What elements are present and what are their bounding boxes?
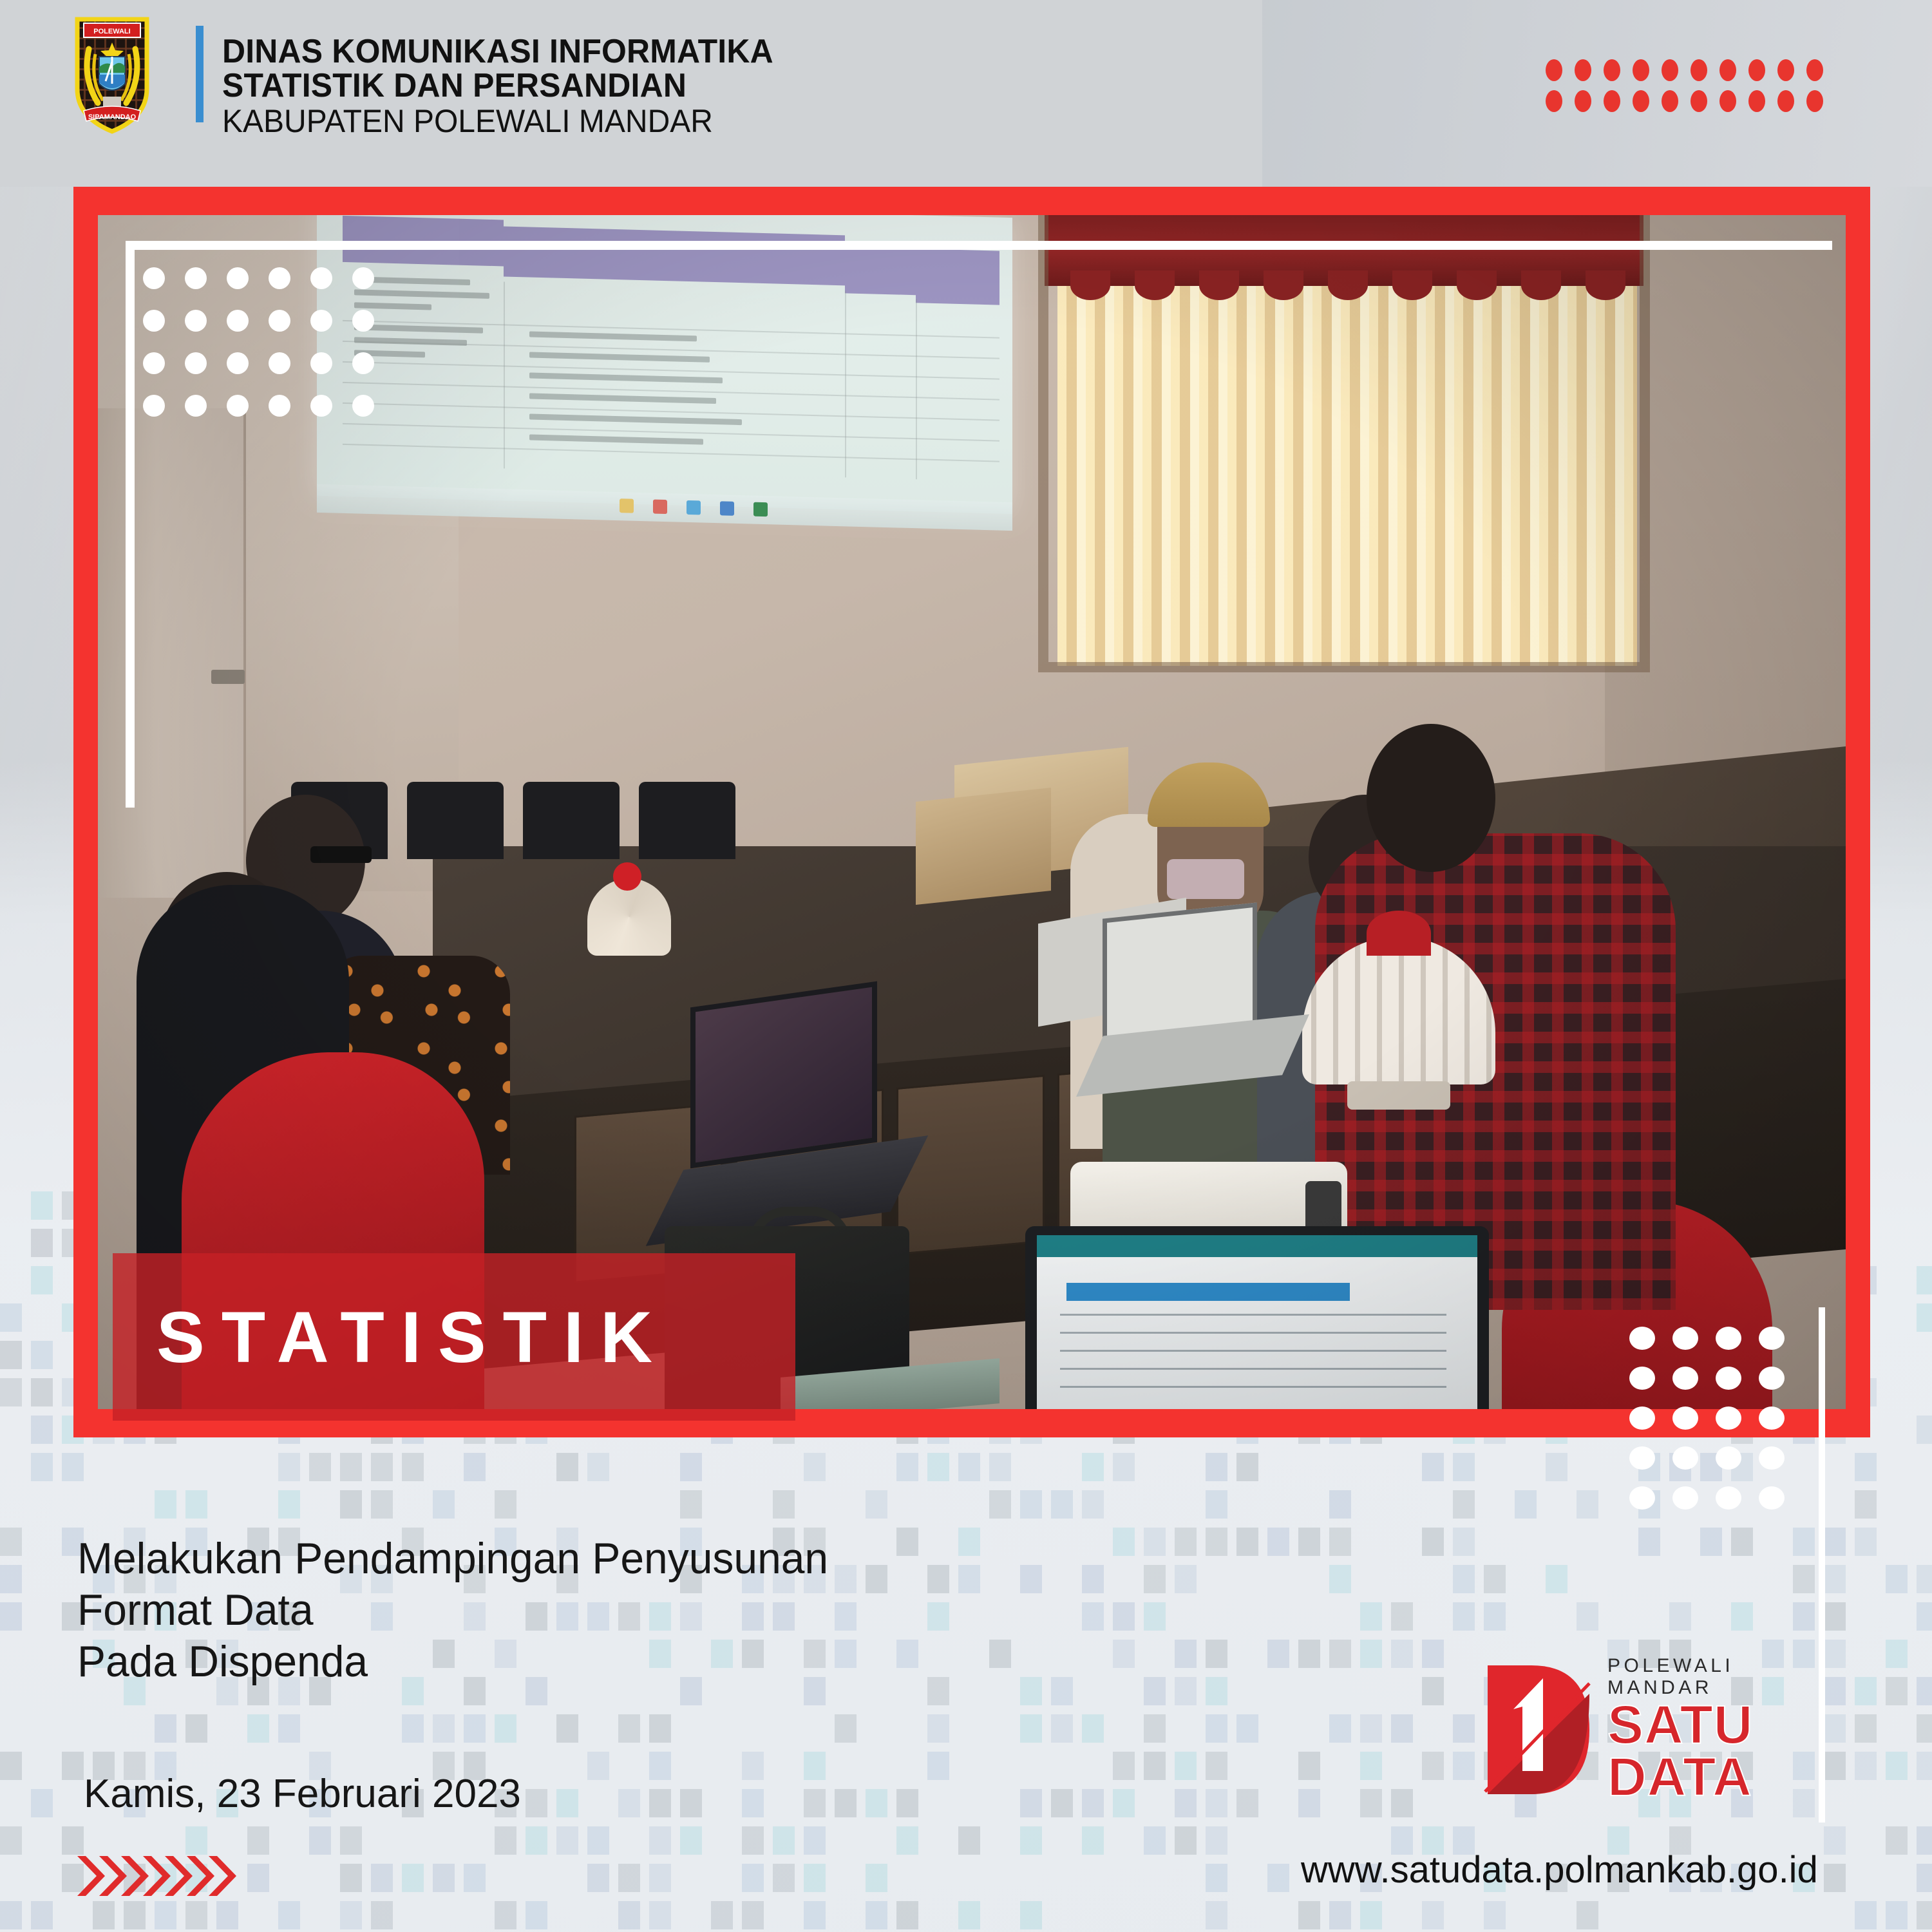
header-dot (1806, 90, 1823, 112)
header-dot (1633, 59, 1649, 81)
event-date: Kamis, 23 Februari 2023 (84, 1771, 521, 1817)
mosaic-pixel (31, 1453, 53, 1481)
mosaic-pixel (680, 1826, 702, 1855)
photo-dot (269, 352, 290, 374)
mosaic-pixel (927, 1752, 949, 1780)
statistik-label: STATISTIK (156, 1296, 669, 1379)
event-title-line-3: Pada Dispenda (77, 1636, 1139, 1687)
mosaic-pixel (0, 1528, 22, 1556)
mosaic-pixel (1917, 1677, 1932, 1705)
mosaic-pixel (587, 1752, 609, 1780)
footer-dot (1759, 1446, 1785, 1470)
mosaic-pixel (1175, 1752, 1197, 1780)
photo-dot (185, 395, 207, 417)
mosaic-pixel (1206, 1677, 1227, 1705)
mosaic-pixel (185, 1901, 207, 1929)
mosaic-pixel (1484, 1565, 1506, 1593)
mosaic-pixel (0, 1341, 22, 1369)
photo-dot (310, 352, 332, 374)
footer-dot (1629, 1367, 1655, 1390)
mosaic-pixel (896, 1901, 918, 1929)
photo-dot (143, 395, 165, 417)
mosaic-pixel (1515, 1490, 1537, 1519)
mosaic-pixel (433, 1490, 455, 1519)
mosaic-pixel (1638, 1528, 1660, 1556)
header-dot (1633, 90, 1649, 112)
mosaic-pixel (1206, 1453, 1227, 1481)
mosaic-pixel (371, 1901, 393, 1929)
mosaic-pixel (1391, 1789, 1413, 1817)
mosaic-pixel (495, 1826, 516, 1855)
header-dot (1748, 59, 1765, 81)
mosaic-pixel (1206, 1864, 1227, 1892)
mosaic-pixel (1824, 1602, 1846, 1631)
mosaic-pixel (1731, 1528, 1753, 1556)
footer-dot (1672, 1367, 1698, 1390)
mosaic-pixel (340, 1453, 362, 1481)
header-dot (1662, 59, 1678, 81)
mosaic-pixel (1360, 1602, 1382, 1631)
mosaic-pixel (340, 1490, 362, 1519)
mosaic-pixel (680, 1789, 702, 1817)
mosaic-pixel (1422, 1453, 1444, 1481)
photo-dot (227, 395, 249, 417)
photo-dot (352, 395, 374, 417)
mosaic-pixel (1855, 1528, 1877, 1556)
mosaic-pixel (1422, 1677, 1444, 1705)
header-dot (1777, 59, 1794, 81)
mosaic-pixel (1546, 1565, 1567, 1593)
mosaic-pixel (649, 1864, 671, 1892)
mosaic-pixel (155, 1490, 176, 1519)
satu-data-region-label: POLEWALI MANDAR (1607, 1655, 1823, 1699)
header-dot (1662, 90, 1678, 112)
mosaic-pixel (1298, 1789, 1320, 1817)
photo-dot (352, 310, 374, 332)
footer-dot (1672, 1406, 1698, 1430)
header-dot (1604, 59, 1620, 81)
statistik-banner: STATISTIK (113, 1253, 795, 1421)
mosaic-pixel (1422, 1752, 1444, 1780)
mosaic-pixel (649, 1826, 671, 1855)
mosaic-pixel (1144, 1752, 1166, 1780)
mosaic-pixel (31, 1789, 53, 1817)
footer-dot (1629, 1446, 1655, 1470)
mosaic-pixel (216, 1901, 238, 1929)
header-dot (1748, 90, 1765, 112)
photo-inner-white-border (126, 241, 135, 808)
mosaic-pixel (1824, 1565, 1846, 1593)
mosaic-pixel (1298, 1528, 1320, 1556)
photo-dot (269, 267, 290, 289)
mosaic-pixel (1855, 1752, 1877, 1780)
mosaic-pixel (1144, 1714, 1166, 1743)
mosaic-pixel (649, 1714, 671, 1743)
mosaic-pixel (773, 1864, 795, 1892)
mosaic-pixel (526, 1826, 547, 1855)
mosaic-pixel (309, 1826, 331, 1855)
mosaic-pixel (1422, 1640, 1444, 1668)
mosaic-pixel (587, 1826, 609, 1855)
mosaic-pixel (927, 1714, 949, 1743)
mosaic-pixel (1175, 1789, 1197, 1817)
mosaic-pixel (1669, 1602, 1691, 1631)
mosaic-pixel (1206, 1901, 1227, 1929)
mosaic-pixel (1206, 1714, 1227, 1743)
mosaic-pixel (1546, 1453, 1567, 1481)
mosaic-pixel (1793, 1602, 1815, 1631)
mosaic-pixel (0, 1752, 22, 1780)
mosaic-pixel (1020, 1714, 1042, 1743)
mosaic-pixel (556, 1789, 578, 1817)
mosaic-pixel (1082, 1826, 1104, 1855)
mosaic-pixel (495, 1490, 516, 1519)
mosaic-pixel (1267, 1528, 1289, 1556)
photo-dot (352, 352, 374, 374)
mosaic-pixel (742, 1789, 764, 1817)
mosaic-pixel (1113, 1789, 1135, 1817)
mosaic-pixel (31, 1191, 53, 1220)
mosaic-pixel (1453, 1528, 1475, 1556)
footer-dot (1672, 1327, 1698, 1350)
mosaic-pixel (0, 1303, 22, 1332)
mosaic-pixel (371, 1864, 393, 1892)
mosaic-pixel (62, 1826, 84, 1855)
mosaic-pixel (1329, 1528, 1351, 1556)
mosaic-pixel (1917, 1303, 1932, 1332)
mosaic-pixel (31, 1378, 53, 1406)
mosaic-pixel (989, 1490, 1011, 1519)
mosaic-pixel (1824, 1864, 1846, 1892)
mosaic-pixel (1329, 1714, 1351, 1743)
mosaic-pixel (1082, 1789, 1104, 1817)
mosaic-pixel (1020, 1826, 1042, 1855)
mosaic-pixel (1236, 1453, 1258, 1481)
mosaic-pixel (618, 1864, 640, 1892)
mosaic-pixel (371, 1453, 393, 1481)
satu-data-word-satu: SATU (1607, 1699, 1823, 1751)
mosaic-pixel (1917, 1826, 1932, 1855)
mosaic-pixel (1886, 1565, 1908, 1593)
footer-dot (1672, 1486, 1698, 1510)
mosaic-pixel (1453, 1752, 1475, 1780)
mosaic-pixel (1206, 1789, 1227, 1817)
mosaic-pixel (1206, 1490, 1227, 1519)
mosaic-pixel (0, 1378, 22, 1406)
mosaic-pixel (185, 1826, 207, 1855)
photo-dot (185, 267, 207, 289)
mosaic-pixel (1917, 1901, 1932, 1929)
mosaic-pixel (1391, 1602, 1413, 1631)
photo-dot (269, 310, 290, 332)
header-dot (1719, 90, 1736, 112)
mosaic-pixel (495, 1714, 516, 1743)
mosaic-pixel (402, 1453, 424, 1481)
footer-dot (1716, 1367, 1741, 1390)
header-dot (1777, 90, 1794, 112)
mosaic-pixel (1175, 1565, 1197, 1593)
photo-dot (227, 267, 249, 289)
mosaic-pixel (866, 1490, 887, 1519)
mosaic-pixel (1082, 1714, 1104, 1743)
mosaic-pixel (1236, 1528, 1258, 1556)
mosaic-pixel (31, 1416, 53, 1444)
mosaic-pixel (1886, 1752, 1908, 1780)
mosaic-pixel (62, 1453, 84, 1481)
photo-dot (143, 267, 165, 289)
mosaic-pixel (309, 1453, 331, 1481)
photo-inner-white-border-top (126, 241, 1832, 250)
mosaic-pixel (1082, 1490, 1104, 1519)
satu-data-word-data: DATA (1607, 1751, 1823, 1803)
mosaic-pixel (1020, 1901, 1042, 1929)
mosaic-pixel (1329, 1640, 1351, 1668)
mosaic-pixel (1236, 1714, 1258, 1743)
header-dot (1575, 90, 1591, 112)
mosaic-pixel (1700, 1528, 1722, 1556)
mosaic-pixel (402, 1864, 424, 1892)
mosaic-pixel (185, 1490, 207, 1519)
mosaic-pixel (62, 1752, 84, 1780)
mosaic-pixel (1453, 1453, 1475, 1481)
mosaic-pixel (278, 1490, 300, 1519)
mosaic-pixel (247, 1714, 269, 1743)
header-divider-rule (196, 26, 204, 122)
mosaic-pixel (556, 1714, 578, 1743)
mosaic-pixel (526, 1901, 547, 1929)
footer-dot (1716, 1486, 1741, 1510)
chevron-icon (77, 1856, 105, 1896)
coat-of-arms-icon: POLEWALI SIPAMANDAO (73, 17, 151, 134)
website-url: www.satudata.polmankab.go.id (1301, 1848, 1818, 1891)
mosaic-pixel (896, 1453, 918, 1481)
mosaic-pixel (278, 1714, 300, 1743)
mosaic-pixel (1824, 1714, 1846, 1743)
mosaic-pixel (958, 1826, 980, 1855)
mosaic-pixel (742, 1901, 764, 1929)
mosaic-pixel (1453, 1565, 1475, 1593)
photo-dot (143, 310, 165, 332)
satu-data-wordmark: POLEWALI MANDAR SATU DATA (1607, 1655, 1823, 1803)
organization-title: DINAS KOMUNIKASI INFORMATIKA STATISTIK D… (222, 35, 796, 139)
mosaic-pixel (31, 1229, 53, 1257)
footer-dot (1759, 1367, 1785, 1390)
mosaic-pixel (618, 1901, 640, 1929)
photo-dot (227, 352, 249, 374)
mosaic-pixel (526, 1789, 547, 1817)
mosaic-pixel (1236, 1789, 1258, 1817)
mosaic-pixel (31, 1266, 53, 1294)
mosaic-pixel (31, 1901, 53, 1929)
mosaic-pixel (0, 1826, 22, 1855)
header-dot (1690, 59, 1707, 81)
mosaic-pixel (340, 1901, 362, 1929)
header-dot (1546, 59, 1562, 81)
mosaic-pixel (464, 1714, 486, 1743)
mosaic-pixel (1113, 1752, 1135, 1780)
org-title-line-1: DINAS KOMUNIKASI INFORMATIKA (222, 35, 773, 69)
footer-dot (1759, 1406, 1785, 1430)
mosaic-pixel (1206, 1826, 1227, 1855)
mosaic-pixel (0, 1602, 22, 1631)
mosaic-pixel (1175, 1640, 1197, 1668)
mosaic-pixel (649, 1901, 671, 1929)
header-dot (1719, 59, 1736, 81)
mosaic-pixel (1020, 1490, 1042, 1519)
footer-dot (1716, 1327, 1741, 1350)
mosaic-pixel (1453, 1714, 1475, 1743)
mosaic-pixel (989, 1453, 1011, 1481)
footer-dot (1716, 1406, 1741, 1430)
header-dot (1690, 90, 1707, 112)
mosaic-pixel (866, 1901, 887, 1929)
mosaic-pixel (649, 1789, 671, 1817)
mosaic-pixel (1051, 1714, 1073, 1743)
mosaic-pixel (278, 1901, 300, 1929)
mosaic-pixel (464, 1453, 486, 1481)
mosaic-pixel (1886, 1826, 1908, 1855)
mosaic-pixel (247, 1826, 269, 1855)
mosaic-pixel (1731, 1602, 1753, 1631)
mosaic-pixel (1360, 1901, 1382, 1929)
mosaic-pixel (1855, 1453, 1877, 1481)
mosaic-pixel (1051, 1490, 1073, 1519)
mosaic-pixel (1855, 1490, 1877, 1519)
mosaic-pixel (680, 1453, 702, 1481)
mosaic-pixel (1175, 1528, 1197, 1556)
mosaic-pixel (866, 1864, 887, 1892)
photo-dot (310, 310, 332, 332)
mosaic-pixel (247, 1864, 269, 1892)
mosaic-pixel (1577, 1901, 1598, 1929)
mosaic-pixel (1917, 1266, 1932, 1294)
mosaic-pixel (1329, 1490, 1351, 1519)
mosaic-pixel (1175, 1826, 1197, 1855)
footer-dot (1629, 1486, 1655, 1510)
mosaic-pixel (1824, 1752, 1846, 1780)
footer-dot (1759, 1486, 1785, 1510)
mosaic-pixel (804, 1826, 826, 1855)
photo-dot (352, 267, 374, 289)
mosaic-pixel (340, 1826, 362, 1855)
photo-vignette (98, 215, 1846, 1409)
mosaic-pixel (0, 1565, 22, 1593)
mosaic-pixel (742, 1752, 764, 1780)
mosaic-pixel (278, 1453, 300, 1481)
mosaic-pixel (711, 1901, 733, 1929)
mosaic-pixel (1453, 1602, 1475, 1631)
mosaic-pixel (556, 1453, 578, 1481)
mosaic-pixel (464, 1864, 486, 1892)
mosaic-pixel (1206, 1528, 1227, 1556)
mosaic-pixel (1082, 1453, 1104, 1481)
mosaic-pixel (1329, 1901, 1351, 1929)
mosaic-pixel (773, 1490, 795, 1519)
mosaic-pixel (1917, 1714, 1932, 1743)
mosaic-pixel (1329, 1565, 1351, 1593)
mosaic-pixel (587, 1453, 609, 1481)
mosaic-pixel (185, 1714, 207, 1743)
header-dot (1575, 59, 1591, 81)
mosaic-pixel (433, 1714, 455, 1743)
mosaic-pixel (31, 1341, 53, 1369)
mosaic-pixel (1855, 1677, 1877, 1705)
mosaic-pixel (649, 1752, 671, 1780)
mosaic-pixel (1577, 1602, 1598, 1631)
header-dot (1806, 59, 1823, 81)
mosaic-pixel (1453, 1490, 1475, 1519)
photo-dot (310, 395, 332, 417)
mosaic-pixel (1824, 1677, 1846, 1705)
mosaic-pixel (927, 1453, 949, 1481)
mosaic-pixel (1824, 1640, 1846, 1668)
mosaic-pixel (587, 1864, 609, 1892)
header-bar: POLEWALI SIPAMANDAO DINAS KOMUNIKASI INF… (0, 0, 1932, 187)
mosaic-pixel (804, 1901, 826, 1929)
event-title-line-1: Melakukan Pendampingan Penyusunan (77, 1533, 1139, 1584)
mosaic-pixel (1484, 1602, 1506, 1631)
satu-data-logo: POLEWALI MANDAR SATU DATA (1481, 1655, 1823, 1803)
footer-dot (1629, 1327, 1655, 1350)
mosaic-pixel (402, 1714, 424, 1743)
mosaic-pixel (1484, 1901, 1506, 1929)
mosaic-pixel (835, 1714, 857, 1743)
event-title-line-2: Format Data (77, 1584, 1139, 1636)
satu-data-d-one-mark-icon (1481, 1660, 1594, 1799)
mosaic-pixel (1360, 1752, 1382, 1780)
mosaic-pixel (1577, 1490, 1598, 1519)
mosaic-pixel (1267, 1864, 1289, 1892)
mosaic-pixel (0, 1901, 22, 1929)
mosaic-pixel (1206, 1752, 1227, 1780)
mosaic-pixel (1422, 1528, 1444, 1556)
mosaic-pixel (1886, 1640, 1908, 1668)
svg-text:POLEWALI: POLEWALI (93, 28, 130, 35)
mosaic-pixel (958, 1901, 980, 1929)
photo-dot (185, 352, 207, 374)
mosaic-pixel (1824, 1528, 1846, 1556)
mosaic-pixel (371, 1490, 393, 1519)
footer-dot (1672, 1446, 1698, 1470)
mosaic-pixel (618, 1714, 640, 1743)
mosaic-pixel (93, 1901, 115, 1929)
mosaic-pixel (1793, 1565, 1815, 1593)
mosaic-pixel (1020, 1789, 1042, 1817)
svg-text:SIPAMANDAO: SIPAMANDAO (88, 113, 137, 121)
mosaic-pixel (773, 1826, 795, 1855)
mosaic-pixel (1917, 1602, 1932, 1631)
mosaic-pixel (958, 1453, 980, 1481)
mosaic-pixel (1298, 1752, 1320, 1780)
footer-dot (1759, 1327, 1785, 1350)
mosaic-pixel (1824, 1826, 1846, 1855)
mosaic-pixel (1422, 1901, 1444, 1929)
mosaic-pixel (804, 1864, 826, 1892)
photo-dot (185, 310, 207, 332)
mosaic-pixel (124, 1901, 146, 1929)
footer-dot (1716, 1446, 1741, 1470)
mosaic-pixel (1113, 1453, 1135, 1481)
mosaic-pixel (835, 1789, 857, 1817)
mosaic-pixel (495, 1901, 516, 1929)
mosaic-pixel (556, 1826, 578, 1855)
photo-dot (227, 310, 249, 332)
mosaic-pixel (1298, 1901, 1320, 1929)
mosaic-pixel (1360, 1640, 1382, 1668)
mosaic-pixel (866, 1789, 887, 1817)
mosaic-pixel (1793, 1528, 1815, 1556)
event-photo (98, 215, 1846, 1409)
